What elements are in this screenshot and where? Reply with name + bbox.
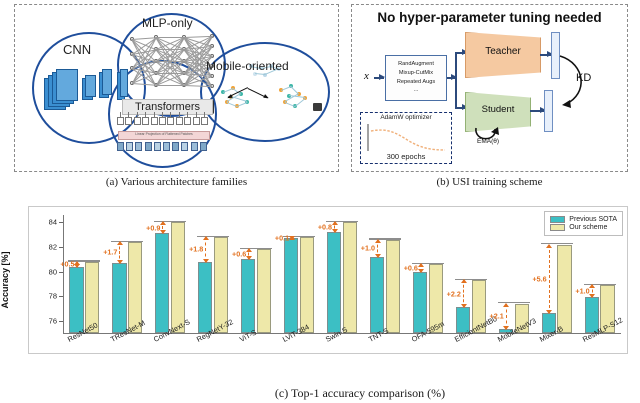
delta-cap-line	[584, 284, 616, 285]
ema-label: EMA(θ)	[477, 138, 499, 145]
delta-arrow-ResMLP-S12	[592, 285, 593, 297]
y-axis	[63, 215, 64, 333]
y-tick-label-76: 76	[39, 316, 57, 325]
token-connector	[170, 112, 171, 117]
arrow-student-out	[530, 110, 545, 112]
delta-arrow-Mixer-B	[549, 245, 550, 314]
token-connector	[154, 112, 155, 117]
delta-label-ResNet50: +0.5	[60, 260, 74, 269]
input-x-label: x	[364, 70, 369, 82]
mlp-edge	[132, 83, 156, 85]
linear-projection-bar: Linear Projection of Flattened Patches	[118, 131, 210, 140]
arrow-x-to-aug	[374, 77, 384, 79]
delta-label-OFA-595m: +0.6	[404, 263, 418, 272]
delta-label-ResMLP-S12: +1.0	[575, 287, 589, 296]
transformer-token	[167, 117, 174, 125]
delta-label-Swin-S: +0.8	[318, 223, 332, 232]
teacher-block: Teacher	[465, 32, 541, 78]
image-patch	[181, 142, 188, 151]
aug-line-3: ...	[386, 87, 446, 93]
graph-edge	[237, 102, 247, 107]
aug-line-2: Repeated Augs	[386, 78, 446, 87]
chip-icon	[313, 103, 322, 111]
epochs-label: 300 epochs	[360, 152, 452, 161]
delta-arrow-ViT-S	[248, 249, 249, 259]
caption-panel-a: (a) Various architecture families	[14, 176, 339, 188]
augmentation-box: RandAugment Mixup-CutMix Repeated Augs .…	[385, 55, 447, 101]
caption-panel-b: (b) USI training scheme	[351, 176, 628, 188]
bar-previous-sota-LViT-384	[284, 238, 298, 333]
delta-arrow-EfficientNetB0	[463, 280, 464, 307]
mlp-edge	[156, 85, 184, 86]
delta-arrow-RegNetY-32	[205, 237, 206, 262]
delta-label-EfficientNetB0: +2.2	[447, 289, 461, 298]
token-connector	[162, 112, 163, 117]
label-mlp-only: MLP-only	[142, 16, 193, 30]
image-patch	[135, 142, 142, 151]
kd-label: KD	[576, 72, 591, 84]
transformer-token-strip	[117, 117, 211, 127]
image-patch	[145, 142, 152, 151]
image-patch	[126, 142, 133, 151]
mlp-edge	[184, 85, 212, 87]
transformer-token	[159, 117, 166, 125]
graph-edge	[295, 98, 305, 106]
token-connector	[137, 112, 138, 117]
delta-cap-line	[541, 243, 573, 244]
y-tick-label-80: 80	[39, 267, 57, 276]
token-connector	[196, 112, 197, 117]
transformer-token	[117, 117, 124, 125]
token-connector	[179, 112, 180, 117]
y-axis-title: Accuracy [%]	[0, 251, 10, 308]
graph-edge	[231, 96, 247, 102]
delta-arrow-OFA-595m	[420, 264, 421, 271]
delta-arrow-ResNet50	[77, 262, 78, 267]
delta-label-ConvNext-S: +0.9	[146, 223, 160, 232]
transformer-token	[176, 117, 183, 125]
delta-label-Mixer-B: +5.6	[532, 274, 546, 283]
caption-panel-c: (c) Top-1 accuracy comparison (%)	[160, 386, 560, 401]
student-logits-bar	[544, 90, 553, 132]
delta-label-TResNet-M: +1.7	[103, 248, 117, 257]
bar-our-scheme-TNT-S	[386, 240, 400, 333]
delta-arrow-MobileNetV3	[506, 304, 507, 330]
bar-previous-sota-TResNet-M	[112, 263, 126, 333]
aug-line-1: Mixup-CutMix	[386, 69, 446, 78]
bar-our-scheme-Swin-S	[343, 222, 357, 333]
legend-item-previous-sota: Previous SOTA	[550, 216, 617, 223]
legend-label-previous-sota: Previous SOTA	[569, 216, 617, 223]
transformer-token	[184, 117, 191, 125]
delta-arrow-Swin-S	[334, 222, 335, 232]
legend-label-our-scheme: Our scheme	[569, 224, 607, 231]
image-patch	[163, 142, 170, 151]
legend-swatch-our-scheme	[550, 224, 565, 231]
label-mobile-oriented: Mobile-oriented	[206, 59, 289, 73]
bar-previous-sota-Swin-S	[327, 232, 341, 333]
delta-label-ViT-S: +0.6	[232, 250, 246, 259]
y-tick-label-78: 78	[39, 292, 57, 301]
bar-previous-sota-RegNetY-32	[198, 262, 212, 333]
token-connector	[120, 112, 121, 117]
delta-label-TNT-S: +1.0	[361, 244, 375, 253]
delta-cap-line	[498, 302, 530, 303]
token-connector	[187, 112, 188, 117]
bar-our-scheme-Mixer-B	[557, 245, 571, 334]
graph-edge	[281, 86, 291, 91]
bar-previous-sota-ResNet50	[69, 267, 83, 333]
image-patch	[191, 142, 198, 151]
graph-edge	[223, 88, 233, 93]
delta-label-LViT-384: +0.1	[275, 233, 289, 242]
student-label: Student	[466, 104, 530, 115]
legend-swatch-previous-sota	[550, 216, 565, 223]
token-connector	[128, 112, 129, 117]
plot-area: 7678808284+0.5ResNet50+1.7TResNet-M+0.9C…	[29, 207, 627, 353]
panel-b-title: No hyper-parameter tuning needed	[351, 10, 628, 25]
delta-arrow-TResNet-M	[119, 242, 120, 263]
image-patch	[154, 142, 161, 151]
token-connector	[204, 112, 205, 117]
bar-previous-sota-TNT-S	[370, 257, 384, 333]
bar-our-scheme-LViT-384	[300, 237, 314, 333]
token-connector	[145, 112, 146, 117]
optimizer-label: AdamW optimizer	[360, 114, 452, 121]
transformer-token	[201, 117, 208, 125]
image-patch	[117, 142, 124, 151]
delta-arrow-ConvNext-S	[162, 222, 163, 233]
delta-label-RegNetY-32: +1.8	[189, 245, 203, 254]
delta-arrow-LViT-384	[291, 237, 292, 239]
aug-line-0: RandAugment	[386, 60, 446, 69]
split-line	[455, 52, 457, 108]
transformer-token	[125, 117, 132, 125]
teacher-label: Teacher	[466, 46, 540, 57]
label-cnn: CNN	[63, 42, 91, 57]
lr-schedule-curve	[365, 122, 449, 154]
delta-label-MobileNetV3: +2.1	[490, 312, 504, 321]
image-patch	[172, 142, 179, 151]
transformer-token	[142, 117, 149, 125]
accuracy-bar-chart: 7678808284+0.5ResNet50+1.7TResNet-M+0.9C…	[28, 206, 628, 354]
delta-arrow-TNT-S	[377, 240, 378, 257]
image-patch	[200, 142, 207, 151]
transformer-token	[193, 117, 200, 125]
bar-previous-sota-ViT-S	[241, 259, 255, 333]
chart-legend: Previous SOTA Our scheme	[544, 211, 623, 236]
transformer-token	[151, 117, 158, 125]
label-transformers: Transformers	[122, 99, 213, 115]
y-tick-label-84: 84	[39, 218, 57, 227]
bar-previous-sota-OFA-595m	[413, 272, 427, 333]
delta-cap-line	[455, 279, 487, 280]
y-tick-label-82: 82	[39, 242, 57, 251]
bar-our-scheme-ViT-S	[257, 249, 271, 333]
bar-previous-sota-ConvNext-S	[155, 233, 169, 333]
legend-item-our-scheme: Our scheme	[550, 224, 617, 231]
transformer-patch-strip	[117, 141, 211, 152]
transformer-token	[134, 117, 141, 125]
bar-our-scheme-ConvNext-S	[171, 222, 185, 333]
